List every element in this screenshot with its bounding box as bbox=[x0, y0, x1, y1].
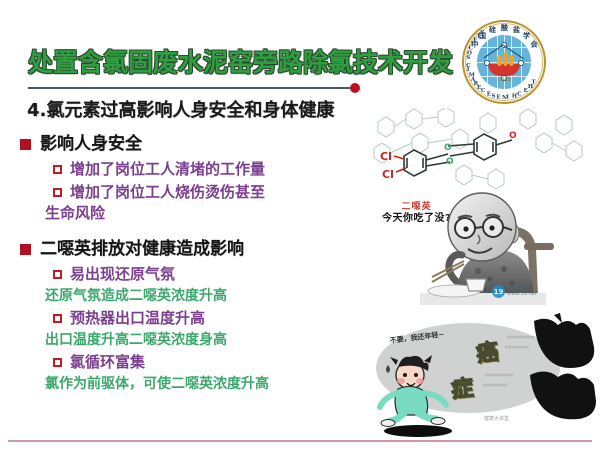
list-item: 增加了岗位工人烧伤烫伤甚至 bbox=[53, 182, 368, 203]
filled-square-bullet-icon bbox=[20, 139, 31, 150]
hollow-square-bullet-icon bbox=[53, 270, 62, 279]
svg-text:O: O bbox=[446, 157, 454, 167]
section-heading-row: 影响人身安全 bbox=[20, 133, 368, 156]
watermark-badge-icon: 19 bbox=[492, 285, 505, 298]
slide-canvas: 中 国 硅 酸 盐 学 会 T H E C H I N E S E C E R … bbox=[0, 0, 600, 450]
list-item-label: 增加了岗位工人清堵的工作量 bbox=[70, 159, 265, 180]
list-item: 易出现还原气氛 bbox=[53, 264, 368, 285]
slide-title: 处置含氯固废水泥窑旁路除氯技术开发 bbox=[28, 43, 453, 79]
list-item: 氯循环富集 bbox=[53, 352, 368, 373]
chem-label-cl-1: Cl bbox=[380, 150, 392, 163]
title-divider-dot bbox=[350, 83, 360, 93]
svg-text:O: O bbox=[509, 131, 517, 141]
filled-square-bullet-icon bbox=[20, 244, 31, 255]
content-body: 影响人身安全 增加了岗位工人清堵的工作量 增加了岗位工人烧伤烫伤甚至 生命风险 … bbox=[20, 133, 368, 395]
hollow-square-bullet-icon bbox=[53, 358, 62, 367]
kanji-cancer-1: 癌 bbox=[474, 334, 500, 369]
bottom-divider-rule bbox=[8, 440, 592, 442]
logo-founding-year: 1945 bbox=[462, 77, 546, 83]
list-item-continuation: 生命风险 bbox=[45, 203, 368, 224]
svg-text:O: O bbox=[444, 143, 452, 153]
list-item-note: 还原气氛造成二噁英浓度升高 bbox=[45, 286, 368, 306]
list-item-note: 氯作为前驱体，可使二噁英浓度升高 bbox=[45, 374, 368, 394]
section-heading-row: 二噁英排放对健康造成影响 bbox=[20, 238, 368, 261]
logo-node-right bbox=[518, 60, 524, 66]
list-item-label: 易出现还原气氛 bbox=[70, 264, 175, 285]
kanji-cancer-2: 症 bbox=[449, 370, 474, 404]
list-item: 预热器出口温度升高 bbox=[53, 308, 368, 329]
title-divider-rule bbox=[28, 87, 353, 89]
watermark-text-line2: www.39.net bbox=[507, 292, 537, 298]
list-item-note: 出口温度升高二噁英浓度身高 bbox=[45, 330, 368, 350]
section-heading-label: 影响人身安全 bbox=[40, 133, 142, 156]
hollow-square-bullet-icon bbox=[53, 314, 62, 323]
eating-man-watermark: 19 39健康网 www.39.net bbox=[492, 285, 537, 298]
logo-node-left bbox=[484, 60, 490, 66]
hollow-square-bullet-icon bbox=[53, 188, 62, 197]
list-item-label: 预热器出口温度升高 bbox=[70, 308, 205, 329]
chem-label-cl-2: Cl bbox=[382, 168, 394, 181]
section-heading-label: 二噁英排放对健康造成影响 bbox=[40, 238, 244, 261]
list-item-label: 氯循环富集 bbox=[70, 352, 145, 373]
list-item: 增加了岗位工人清堵的工作量 bbox=[53, 159, 368, 180]
list-item-label: 增加了岗位工人烧伤烫伤甚至 bbox=[70, 182, 265, 203]
chase-watermark-text: 健康大讲堂 bbox=[484, 415, 509, 422]
cancer-chase-cartoon-image: 不要，我还年轻~ 癌 症 健康大讲堂 bbox=[358, 313, 598, 438]
hollow-square-bullet-icon bbox=[53, 165, 62, 174]
chinese-ceramic-society-logo: 中 国 硅 酸 盐 学 会 T H E C H I N E S E C E R … bbox=[462, 20, 546, 104]
slide-subtitle: 4.氯元素过高影响人身安全和身体健康 bbox=[27, 96, 334, 122]
